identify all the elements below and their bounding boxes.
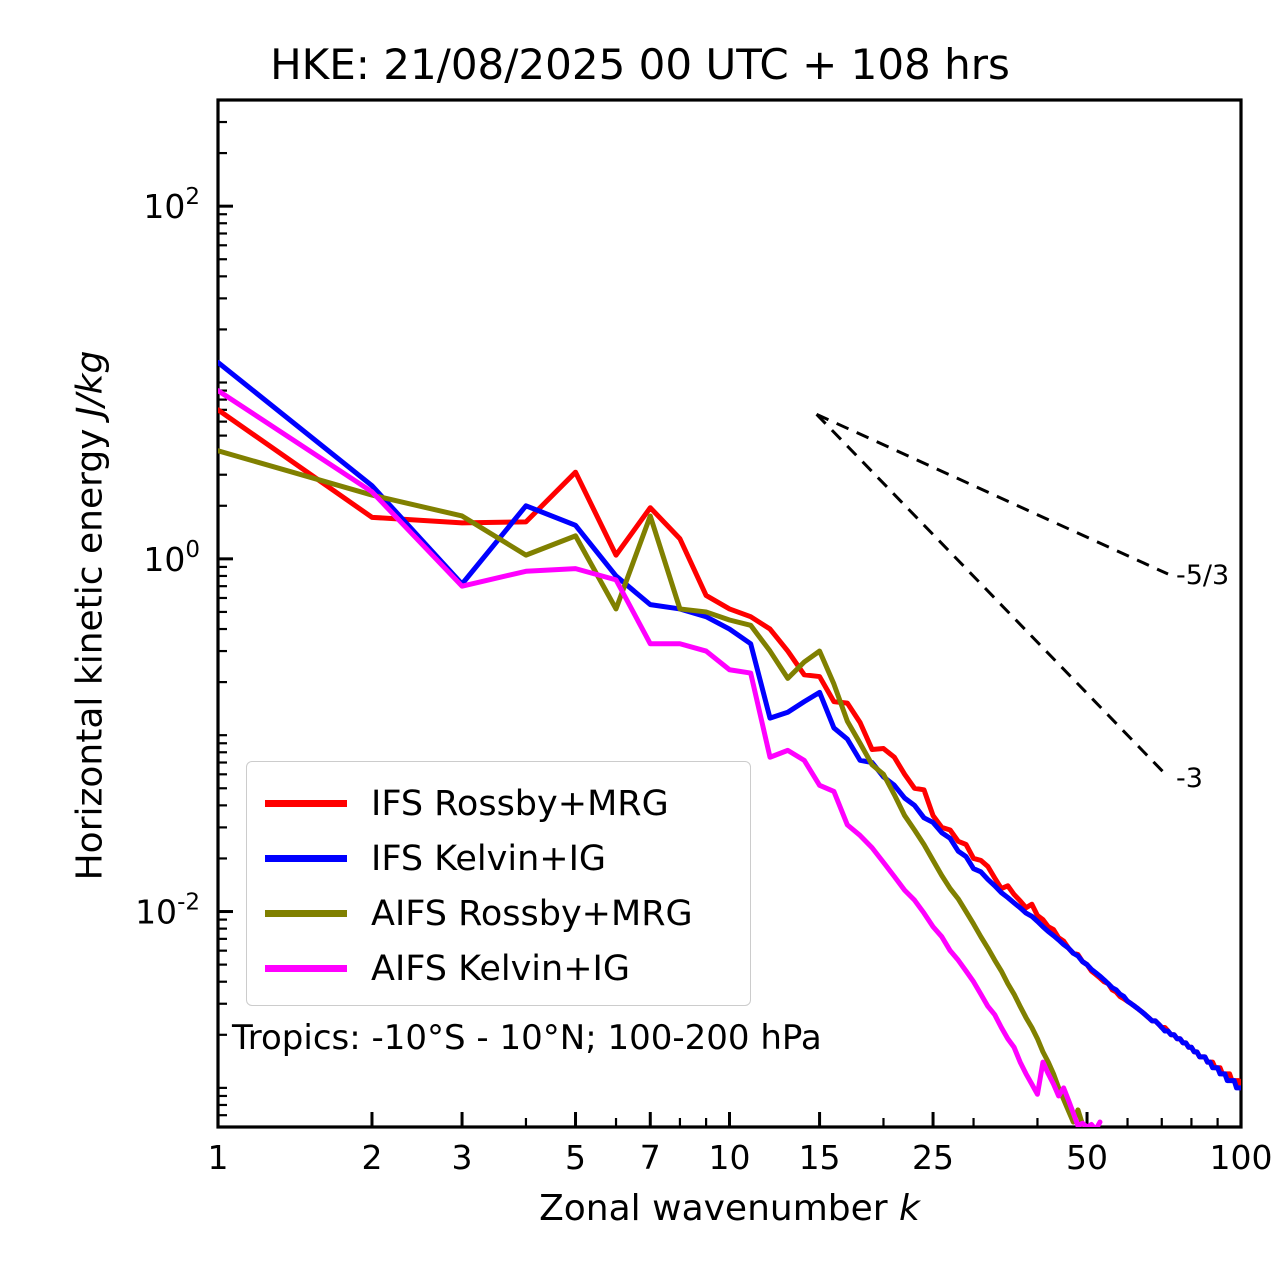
- y-tick-label: 100: [143, 537, 200, 579]
- reference-slope-label: -3: [1176, 763, 1203, 794]
- x-tick-label: 25: [912, 1138, 954, 1177]
- legend-swatch-aifs-rossby-mrg: [265, 910, 347, 917]
- y-axis-label-unit: J/kg: [70, 351, 111, 417]
- legend-label: IFS Rossby+MRG: [371, 784, 669, 824]
- legend-swatch-ifs-kelvin-ig: [265, 855, 347, 862]
- legend-swatch-ifs-rossby-mrg: [265, 800, 347, 807]
- x-tick-label: 50: [1066, 1138, 1108, 1177]
- legend-label: AIFS Kelvin+IG: [371, 949, 630, 989]
- legend-label: AIFS Rossby+MRG: [371, 894, 693, 934]
- x-tick-label: 100: [1210, 1138, 1273, 1177]
- reference-slope-label: -5/3: [1176, 560, 1229, 591]
- legend-item[interactable]: AIFS Rossby+MRG: [265, 886, 732, 941]
- x-tick-label: 2: [361, 1138, 382, 1177]
- y-tick-label: 10-2: [135, 890, 200, 932]
- x-tick-label: 15: [799, 1138, 841, 1177]
- y-tick-label: 102: [143, 184, 200, 226]
- legend-label: IFS Kelvin+IG: [371, 839, 606, 879]
- legend-item[interactable]: IFS Rossby+MRG: [265, 776, 732, 831]
- legend-item[interactable]: IFS Kelvin+IG: [265, 831, 732, 886]
- legend: IFS Rossby+MRG IFS Kelvin+IG AIFS Rossby…: [246, 761, 751, 1006]
- y-axis-label-main: Horizontal kinetic energy: [70, 417, 111, 880]
- spectra-plot: 123571015255010010210010-2-5/3-3: [0, 0, 1280, 1288]
- x-tick-label: 7: [640, 1138, 661, 1177]
- legend-item[interactable]: AIFS Kelvin+IG: [265, 941, 732, 996]
- x-tick-label: 5: [565, 1138, 586, 1177]
- x-tick-label: 1: [208, 1138, 229, 1177]
- chart-page: HKE: 21/08/2025 00 UTC + 108 hrs 1235710…: [0, 0, 1280, 1288]
- x-axis-label-main: Zonal wavenumber: [539, 1188, 899, 1229]
- reference-slope-line: [817, 414, 1168, 777]
- x-tick-label: 10: [709, 1138, 751, 1177]
- y-axis-label: Horizontal kinetic energy J/kg: [70, 236, 111, 996]
- series-group: [218, 362, 1241, 1129]
- x-axis-label-symbol: k: [899, 1188, 920, 1229]
- x-axis-label: Zonal wavenumber k: [218, 1188, 1241, 1229]
- region-annotation: Tropics: -10°S - 10°N; 100-200 hPa: [232, 1018, 822, 1058]
- x-tick-label: 3: [452, 1138, 473, 1177]
- reference-slope-line: [817, 414, 1168, 574]
- legend-swatch-aifs-kelvin-ig: [265, 965, 347, 972]
